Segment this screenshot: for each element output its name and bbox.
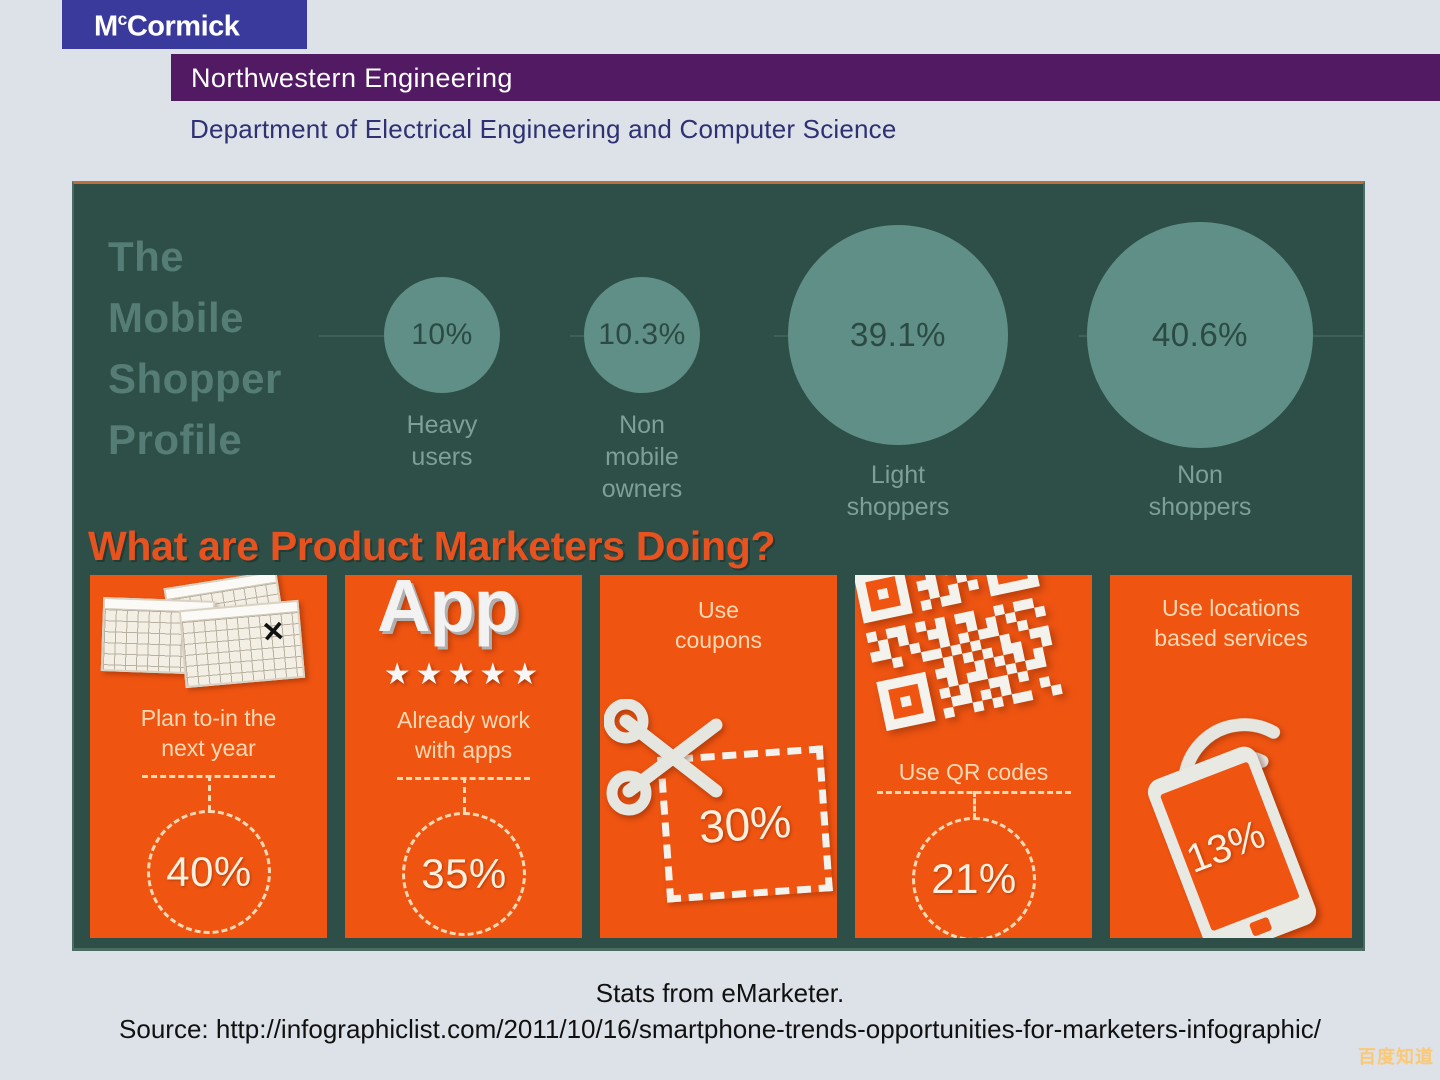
- label-line: mobile: [574, 441, 710, 473]
- bubble-non-mobile-owners: 10.3%: [584, 277, 700, 393]
- dashed-stem: [973, 791, 976, 819]
- school-title: Northwestern Engineering: [191, 63, 513, 94]
- caption-line: Use locations: [1110, 593, 1352, 623]
- bubble-chart: 10% Heavy users 10.3% Non mobile owners …: [74, 184, 1363, 534]
- caption-line: Use: [600, 595, 837, 625]
- mobile-shopper-infographic: The Mobile Shopper Profile 10% Heavy use…: [72, 181, 1365, 951]
- logo-superscript-c: c: [118, 9, 127, 29]
- bubble-label-non-mobile-owners: Non mobile owners: [574, 409, 710, 505]
- panel-percent: 40%: [166, 848, 252, 896]
- scissors-icon: [604, 699, 734, 819]
- label-line: owners: [574, 473, 710, 505]
- mccormick-logo: McCormick: [62, 0, 307, 49]
- connector-line-5: [1309, 335, 1363, 337]
- panel-percent: 35%: [421, 850, 507, 898]
- app-word-icon: App: [377, 575, 518, 648]
- bubble-value-light-shoppers: 39.1%: [850, 316, 946, 354]
- caption-line: based services: [1110, 623, 1352, 653]
- qr-code-icon: [855, 575, 1075, 741]
- bubble-non-shoppers: 40.6%: [1087, 222, 1313, 448]
- slide-footer: Stats from eMarketer. Source: http://inf…: [0, 975, 1440, 1048]
- panel-use-qr-codes[interactable]: Use QR codes 21%: [855, 575, 1092, 938]
- caption-line: with apps: [345, 735, 582, 765]
- panel-percent: 21%: [931, 855, 1017, 903]
- panel-location-based-services[interactable]: Use locations based services 13%: [1110, 575, 1352, 938]
- label-line: shoppers: [828, 491, 968, 523]
- label-line: users: [374, 441, 510, 473]
- caption-line: coupons: [600, 625, 837, 655]
- marketer-activity-panels: ✕ Plan to-in the next year 40% App ★★★★★…: [90, 575, 1352, 938]
- section-heading: What are Product Marketers Doing?: [88, 523, 775, 570]
- label-line: Non: [574, 409, 710, 441]
- bubble-light-shoppers: 39.1%: [788, 225, 1008, 445]
- logo-m: M: [94, 11, 118, 43]
- label-line: shoppers: [1130, 491, 1270, 523]
- mccormick-logo-text: McCormick: [94, 9, 239, 44]
- footer-url: Source: http://infographiclist.com/2011/…: [0, 1011, 1440, 1047]
- label-line: Light: [828, 459, 968, 491]
- bubble-heavy-users: 10%: [384, 277, 500, 393]
- department-subtitle: Department of Electrical Engineering and…: [190, 114, 897, 145]
- bubble-value-heavy-users: 10%: [411, 318, 473, 352]
- five-stars-icon: ★★★★★: [345, 657, 582, 692]
- panel-caption: Use locations based services: [1110, 593, 1352, 654]
- dashed-stem: [463, 777, 466, 813]
- caption-line: Use QR codes: [855, 757, 1092, 787]
- bubble-value-non-mobile-owners: 10.3%: [598, 318, 686, 352]
- panel-use-coupons[interactable]: Use coupons 30%: [600, 575, 837, 938]
- percent-badge: 35%: [402, 812, 526, 936]
- logo-cormick: Cormick: [127, 11, 240, 43]
- baidu-zhidao-watermark: 百度知道: [1358, 1043, 1434, 1069]
- footer-stats-source: Stats from eMarketer.: [0, 975, 1440, 1011]
- dashed-stem: [208, 775, 211, 811]
- x-mark-icon: ✕: [260, 617, 286, 647]
- bubble-label-non-shoppers: Non shoppers: [1130, 459, 1270, 523]
- panel-caption: Already work with apps: [345, 705, 582, 766]
- panel-caption: Use QR codes: [855, 757, 1092, 787]
- label-line: Non: [1130, 459, 1270, 491]
- northwestern-engineering-bar: Northwestern Engineering: [171, 54, 1440, 101]
- bubble-label-light-shoppers: Light shoppers: [828, 459, 968, 523]
- percent-badge: 40%: [147, 810, 271, 934]
- panel-plan-next-year[interactable]: ✕ Plan to-in the next year 40%: [90, 575, 327, 938]
- caption-line: Already work: [345, 705, 582, 735]
- caption-line: Plan to-in the: [90, 703, 327, 733]
- percent-badge: 21%: [912, 817, 1036, 938]
- caption-line: next year: [90, 733, 327, 763]
- label-line: Heavy: [374, 409, 510, 441]
- panel-caption: Use coupons: [600, 595, 837, 656]
- bubble-label-heavy-users: Heavy users: [374, 409, 510, 473]
- slide-header: McCormick Northwestern Engineering Depar…: [0, 0, 1440, 175]
- bubble-value-non-shoppers: 40.6%: [1152, 316, 1248, 354]
- panel-already-work-with-apps[interactable]: App ★★★★★ Already work with apps 35%: [345, 575, 582, 938]
- panel-caption: Plan to-in the next year: [90, 703, 327, 764]
